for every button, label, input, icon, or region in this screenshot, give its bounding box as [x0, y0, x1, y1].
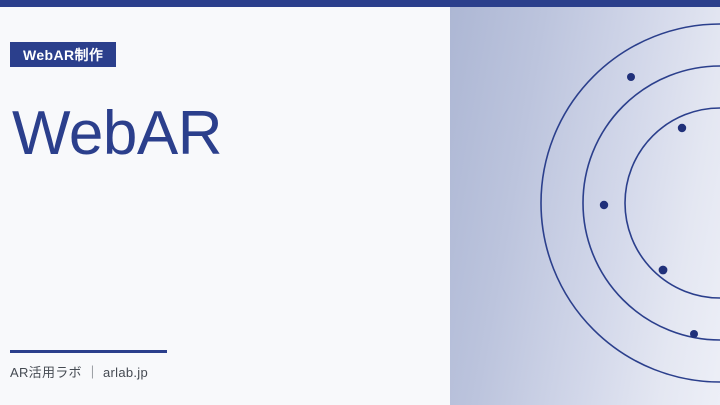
category-badge: WebAR制作 [10, 42, 116, 67]
concentric-circles-graphic [450, 7, 720, 405]
page-title: WebAR [12, 103, 222, 165]
node-dot-4 [659, 266, 668, 275]
footer-credit: AR活用ラボ ｜ arlab.jp [10, 366, 167, 379]
slide-canvas: WebAR制作 WebAR AR活用ラボ ｜ arlab.jp [0, 0, 720, 405]
category-badge-label: WebAR制作 [23, 48, 103, 62]
footer: AR活用ラボ ｜ arlab.jp [10, 350, 167, 379]
node-dot-3 [600, 201, 608, 209]
inner-circle [625, 108, 720, 298]
decorative-panel [450, 7, 720, 405]
node-dot-2 [678, 124, 686, 132]
node-dot-1 [627, 73, 635, 81]
top-accent-bar [0, 0, 720, 7]
node-dot-5 [690, 330, 698, 338]
footer-divider [10, 350, 167, 353]
